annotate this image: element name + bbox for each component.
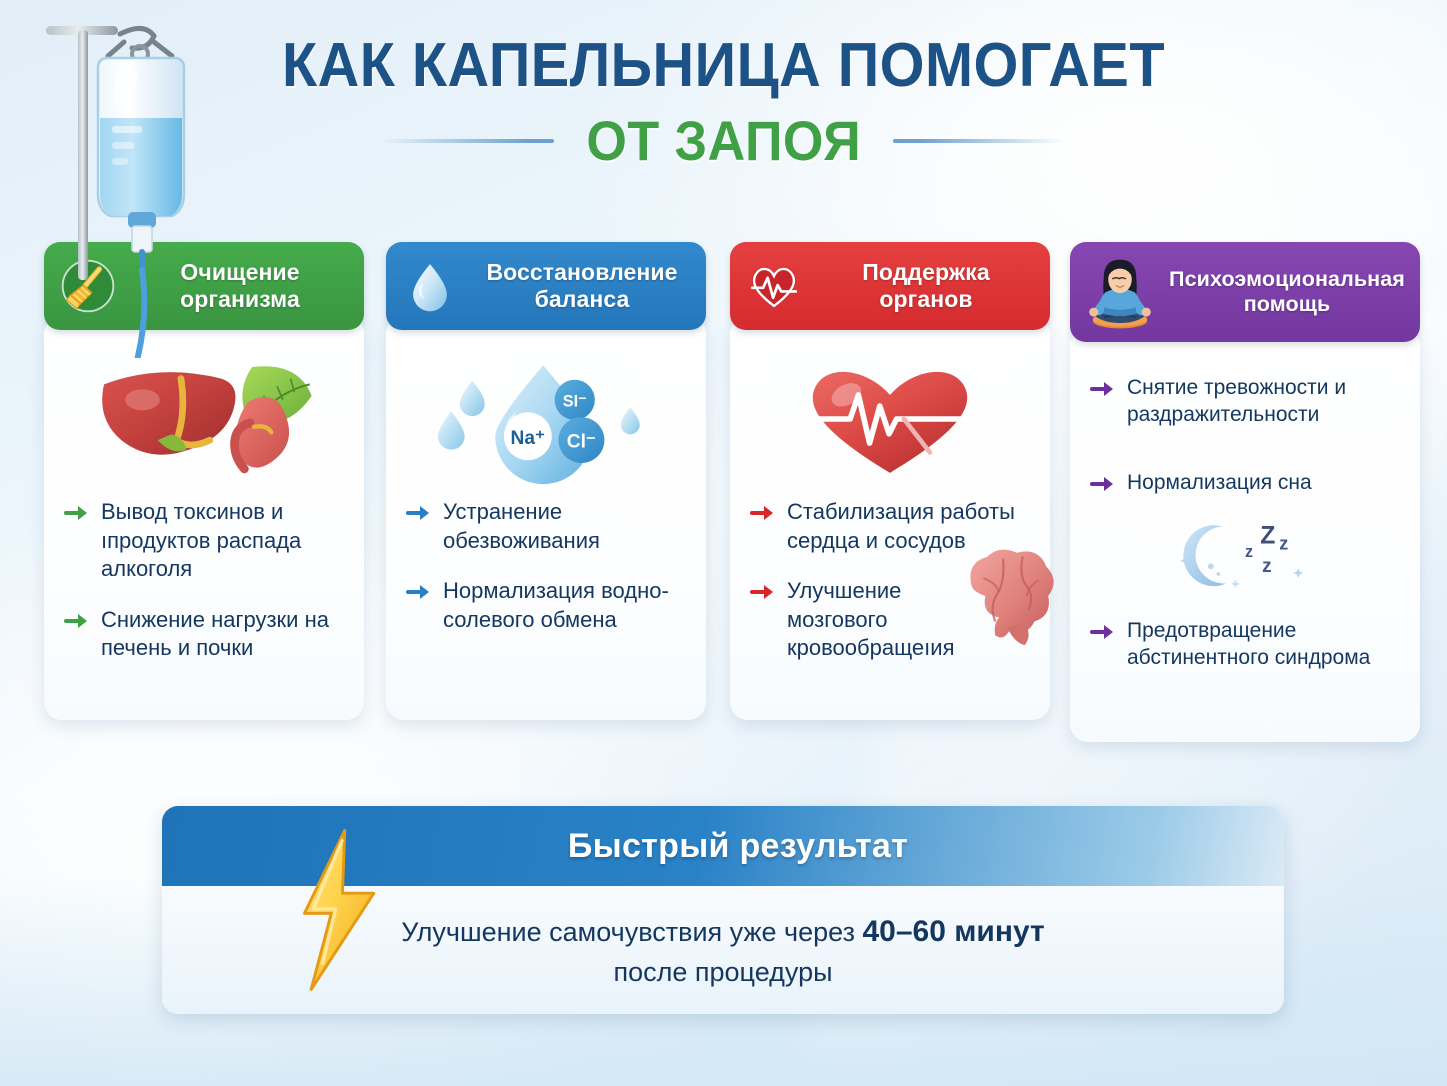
banner-line1-prefix: Улучшение самочувствия уже через	[401, 917, 862, 947]
fast-result-banner: Быстрый результат Улучшение самочувствия…	[162, 806, 1284, 1014]
heart-pulse-outline-icon	[742, 254, 806, 318]
moon-zzz-sleep-icon: Z z z z	[1090, 519, 1400, 591]
svg-text:z: z	[1262, 556, 1272, 577]
card-bullets-psycho: Снятие тревожности и раздражительности Н…	[1086, 354, 1404, 671]
arrow-right-icon	[1090, 379, 1116, 404]
svg-text:Na⁺: Na⁺	[511, 428, 546, 449]
lightning-bolt-icon	[284, 826, 392, 994]
bullet-item: Снижение нагрузки на печень и почки	[64, 606, 344, 663]
card-bullets-balance: Устранение обезвоживания Нормализация во…	[402, 498, 690, 634]
water-drop-icon	[398, 254, 462, 318]
bullet-item: Снятие тревожности и раздражительности	[1090, 374, 1400, 429]
title-rule-left	[382, 139, 554, 143]
svg-text:z: z	[1245, 542, 1253, 560]
card-body-organs: Стабилизация работы сердца и сосудов Улу…	[730, 316, 1050, 720]
bullet-item: Вывод токсинов и ıпродуктов распада алко…	[64, 498, 344, 584]
arrow-right-icon	[64, 611, 90, 636]
bullet-item: Нормализация сна	[1090, 469, 1400, 499]
bullet-item: Предотвращение абстинентного синдрома	[1090, 617, 1400, 672]
card-header-title: Психоэмоциональнаяпомощь	[1168, 267, 1406, 317]
title-rule-right	[893, 139, 1065, 143]
benefit-card-psycho[interactable]: Психоэмоциональнаяпомощь Снятие тревожно…	[1070, 242, 1420, 742]
meditating-woman-icon	[1082, 256, 1158, 332]
card-header-balance: Восстановлениебаланса	[386, 242, 706, 330]
arrow-right-icon	[750, 582, 776, 607]
card-bullets-organs: Стабилизация работы сердца и сосудов Улу…	[746, 498, 1034, 663]
liver-kidney-leaf-icon	[60, 346, 348, 492]
bullet-item: Стабилизация работы сердца и сосудов	[750, 498, 1030, 555]
page-subtitle: ОТ ЗАПОЯ	[586, 108, 861, 173]
arrow-right-icon	[1090, 622, 1116, 647]
bullet-text: Снижение нагрузки на печень и почки	[101, 606, 344, 663]
arrow-right-icon	[1090, 474, 1116, 499]
bullet-text: Нормализация водно-солевого обмена	[443, 577, 686, 634]
arrow-right-icon	[64, 503, 90, 528]
benefit-card-organs[interactable]: Поддержкаорганов	[730, 242, 1050, 720]
bullet-item: Улучшение мозгового кровообращеıия	[750, 577, 1030, 663]
card-header-title: Поддержкаорганов	[816, 259, 1036, 312]
bullet-text: Стабилизация работы сердца и сосудов	[787, 498, 1030, 555]
svg-text:Z: Z	[1260, 522, 1275, 549]
banner-duration-highlight: 40–60 минут	[862, 915, 1044, 948]
svg-text:SI⁻: SI⁻	[563, 393, 587, 411]
svg-text:z: z	[1279, 533, 1288, 553]
benefit-card-balance[interactable]: Восстановлениебаланса	[386, 242, 706, 720]
bullet-item: Устранение обезвоживания	[406, 498, 686, 555]
iv-drip-bag-icon	[32, 8, 262, 358]
heart-ecg-icon	[746, 346, 1034, 492]
bullet-text: Снятие тревожности и раздражительности	[1127, 374, 1400, 429]
card-header-organs: Поддержкаорганов	[730, 242, 1050, 330]
svg-text:Cl⁻: Cl⁻	[567, 432, 596, 453]
card-header-title: Восстановлениебаланса	[472, 259, 692, 312]
card-bullets-cleansing: Вывод токсинов и ıпродуктов распада алко…	[60, 498, 348, 663]
bullet-text: Устранение обезвоживания	[443, 498, 686, 555]
card-body-balance: SI⁻ Na⁺ Cl⁻ Устранение обезвоживания	[386, 316, 706, 720]
banner-heading: Быстрый результат	[568, 827, 908, 866]
card-body-cleansing: Вывод токсинов и ıпродуктов распада алко…	[44, 316, 364, 720]
arrow-right-icon	[406, 503, 432, 528]
bullet-text: Предотвращение абстинентного синдрома	[1127, 617, 1400, 672]
card-header-psycho: Психоэмоциональнаяпомощь	[1070, 242, 1420, 342]
bullet-text: Улучшение мозгового кровообращеıия	[787, 577, 973, 663]
bullet-text: Нормализация сна	[1127, 469, 1312, 496]
arrow-right-icon	[750, 503, 776, 528]
arrow-right-icon	[406, 582, 432, 607]
electrolyte-droplets-icon: SI⁻ Na⁺ Cl⁻	[402, 346, 690, 492]
bullet-item: Нормализация водно-солевого обмена	[406, 577, 686, 634]
card-body-psycho: Снятие тревожности и раздражительности Н…	[1070, 328, 1420, 742]
bullet-text: Вывод токсинов и ıпродуктов распада алко…	[101, 498, 344, 584]
